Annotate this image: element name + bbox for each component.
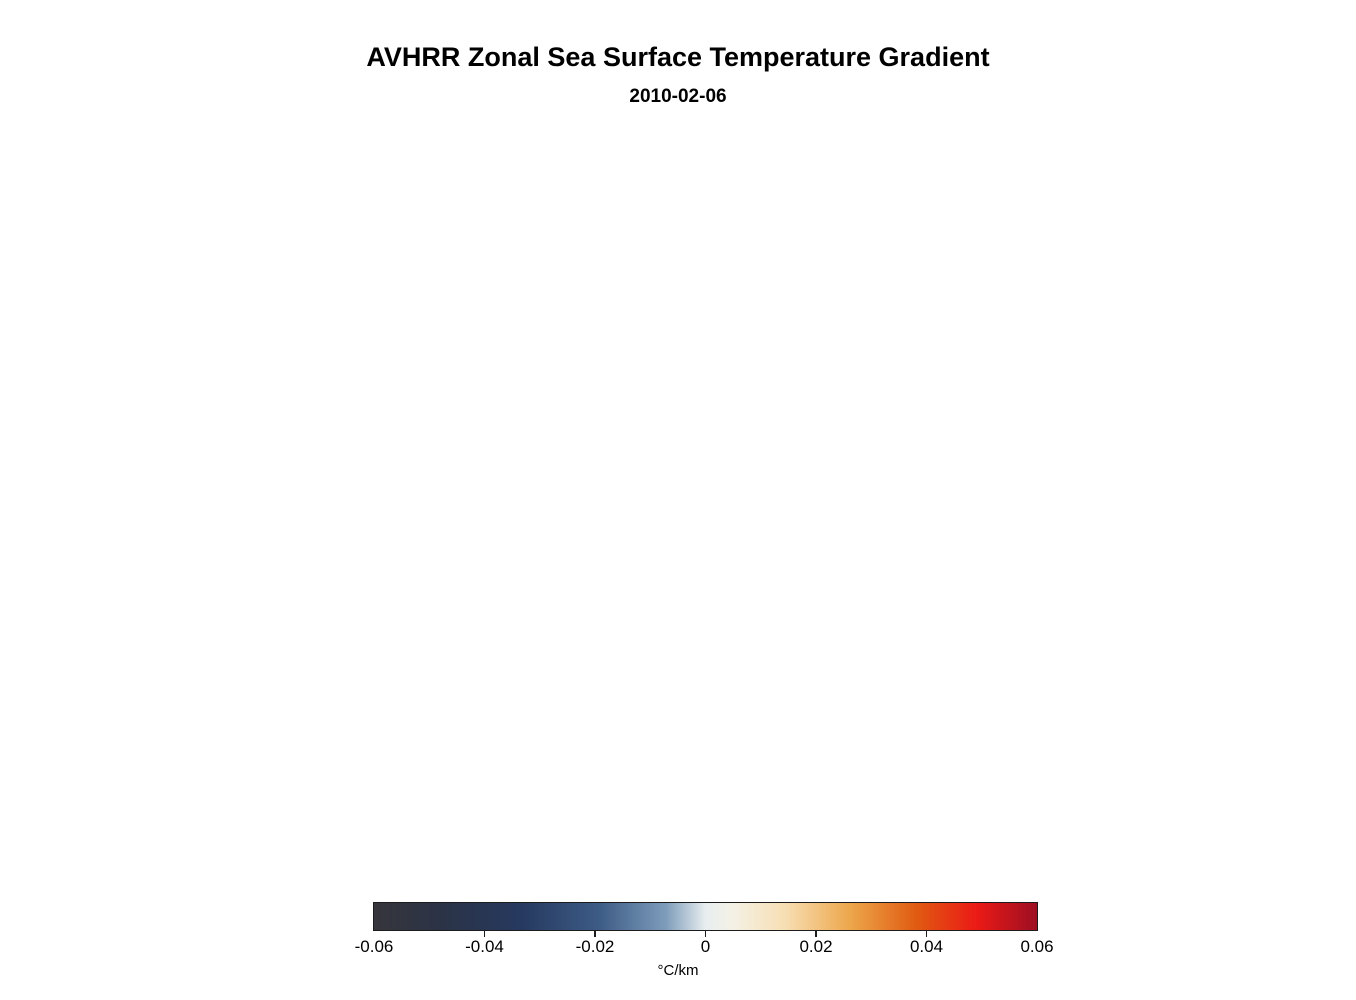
- colorbar-tick-label: 0.06: [977, 937, 1097, 957]
- figure-canvas: AVHRR Zonal Sea Surface Temperature Grad…: [0, 0, 1356, 1000]
- colorbar-tick-label: -0.06: [314, 937, 434, 957]
- colorbar-tick: [926, 930, 927, 937]
- colorbar-tick-label: 0.02: [756, 937, 876, 957]
- colorbar-tick-label: -0.02: [535, 937, 655, 957]
- figure-title: AVHRR Zonal Sea Surface Temperature Grad…: [0, 42, 1356, 73]
- colorbar-tick-label: 0.04: [867, 937, 987, 957]
- map-overlay-graticule: [355, 150, 1051, 846]
- colorbar-unit-label: °C/km: [0, 962, 1356, 979]
- colorbar-tick: [815, 930, 816, 937]
- colorbar-tick: [594, 930, 595, 937]
- colorbar-tick: [705, 930, 706, 937]
- figure-subtitle: 2010-02-06: [0, 86, 1356, 108]
- colorbar-tick-label: 0: [646, 937, 766, 957]
- colorbar: [374, 903, 1037, 930]
- colorbar-frame: [373, 902, 1038, 931]
- colorbar-tick-label: -0.04: [425, 937, 545, 957]
- polar-map: [355, 150, 1051, 846]
- colorbar-tick: [484, 930, 485, 937]
